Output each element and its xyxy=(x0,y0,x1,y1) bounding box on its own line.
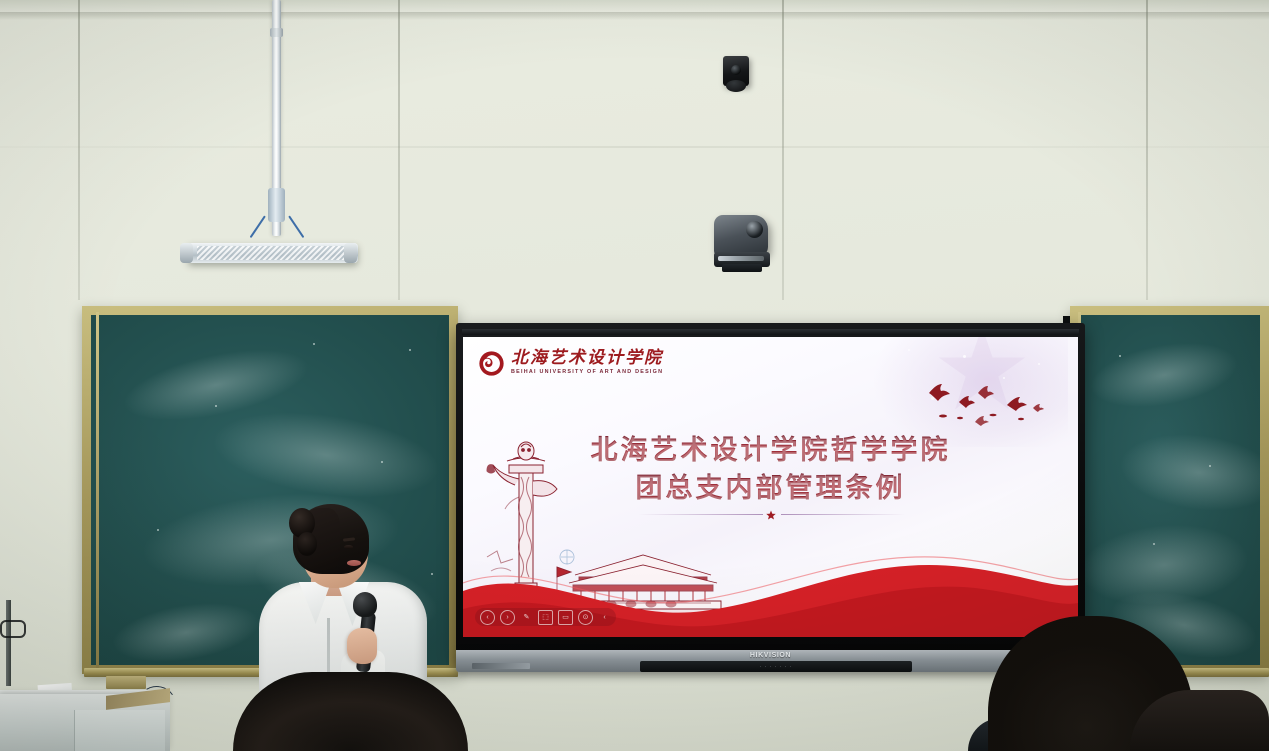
light-end-cap xyxy=(344,243,357,263)
presenter-eye xyxy=(344,545,353,549)
light-end-cap xyxy=(180,243,193,263)
wall-panel-seam xyxy=(398,0,400,300)
ptz-camera-mount xyxy=(722,264,762,272)
previous-slide-button[interactable]: ‹ xyxy=(480,610,495,625)
slide-title-line-1: 北海艺术设计学院哲学学院 xyxy=(463,431,1078,469)
display-control-panel[interactable]: · · · · · · · xyxy=(640,661,912,672)
presentation-slide[interactable]: 北海艺术设计学院 BEIHAI UNIVERSITY OF ART AND DE… xyxy=(463,337,1078,637)
wall-panel-seam xyxy=(782,0,784,300)
wall-panel-seam xyxy=(1146,0,1148,300)
wall-camera-mount xyxy=(726,80,746,92)
spiral-logo-icon xyxy=(478,350,505,377)
ptz-camera-lens-icon xyxy=(746,221,763,238)
chalkboard-left-rail xyxy=(96,312,99,668)
wall-panel-seam xyxy=(78,0,80,300)
display-control-dots: · · · · · · · xyxy=(760,664,793,670)
ceiling-shadow xyxy=(0,12,1269,20)
highlight-tool-button[interactable]: ⬚ xyxy=(538,610,553,625)
title-divider xyxy=(463,507,1078,521)
next-slide-button[interactable]: › xyxy=(500,610,515,625)
slide-title-line-2: 团总支内部管理条例 xyxy=(463,469,1078,507)
display-brand-label: HIKVISION xyxy=(456,652,1085,659)
logo-cn-name: 北海艺术设计学院 xyxy=(511,349,663,366)
pen-tool-button[interactable]: ✎ xyxy=(520,611,533,624)
chin-left-strip xyxy=(472,663,530,669)
presenter-view-button[interactable]: ▭ xyxy=(558,610,573,625)
light-pole-joint xyxy=(268,188,285,222)
eyeglasses-edge xyxy=(0,620,26,638)
display-chin-bar: HIKVISION · · · · · · · xyxy=(456,650,1085,672)
wall-panel-seam xyxy=(0,146,1269,148)
wall-mounted-box xyxy=(106,676,146,689)
presenter-hair-bun-lower xyxy=(297,532,317,556)
collapse-toolbar-button[interactable]: ‹ xyxy=(598,611,611,624)
classroom-scene: 北海艺术设计学院 BEIHAI UNIVERSITY OF ART AND DE… xyxy=(0,0,1269,751)
slide-title-block: 北海艺术设计学院哲学学院 团总支内部管理条例 xyxy=(463,431,1078,508)
red-star-icon xyxy=(766,510,776,520)
chalkboard-right-surface xyxy=(1079,315,1260,665)
presenter-hand xyxy=(347,628,377,664)
light-pole-collar xyxy=(270,28,283,37)
flying-doves-icon xyxy=(915,375,1045,439)
podium-front-panel xyxy=(74,710,165,751)
display-top-strip xyxy=(462,329,1079,335)
microphone-icon xyxy=(353,592,377,617)
wall-post xyxy=(6,600,11,686)
more-options-button[interactable]: ⊙ xyxy=(578,610,593,625)
logo-en-name: BEIHAI UNIVERSITY OF ART AND DESIGN xyxy=(511,369,663,375)
slide-logo-text: 北海艺术设计学院 BEIHAI UNIVERSITY OF ART AND DE… xyxy=(511,349,663,375)
ceiling-light-fixture xyxy=(188,243,358,263)
presenter-mouth xyxy=(347,560,361,566)
presentation-toolbar[interactable]: ‹ › ✎ ⬚ ▭ ⊙ ‹ xyxy=(475,608,616,626)
